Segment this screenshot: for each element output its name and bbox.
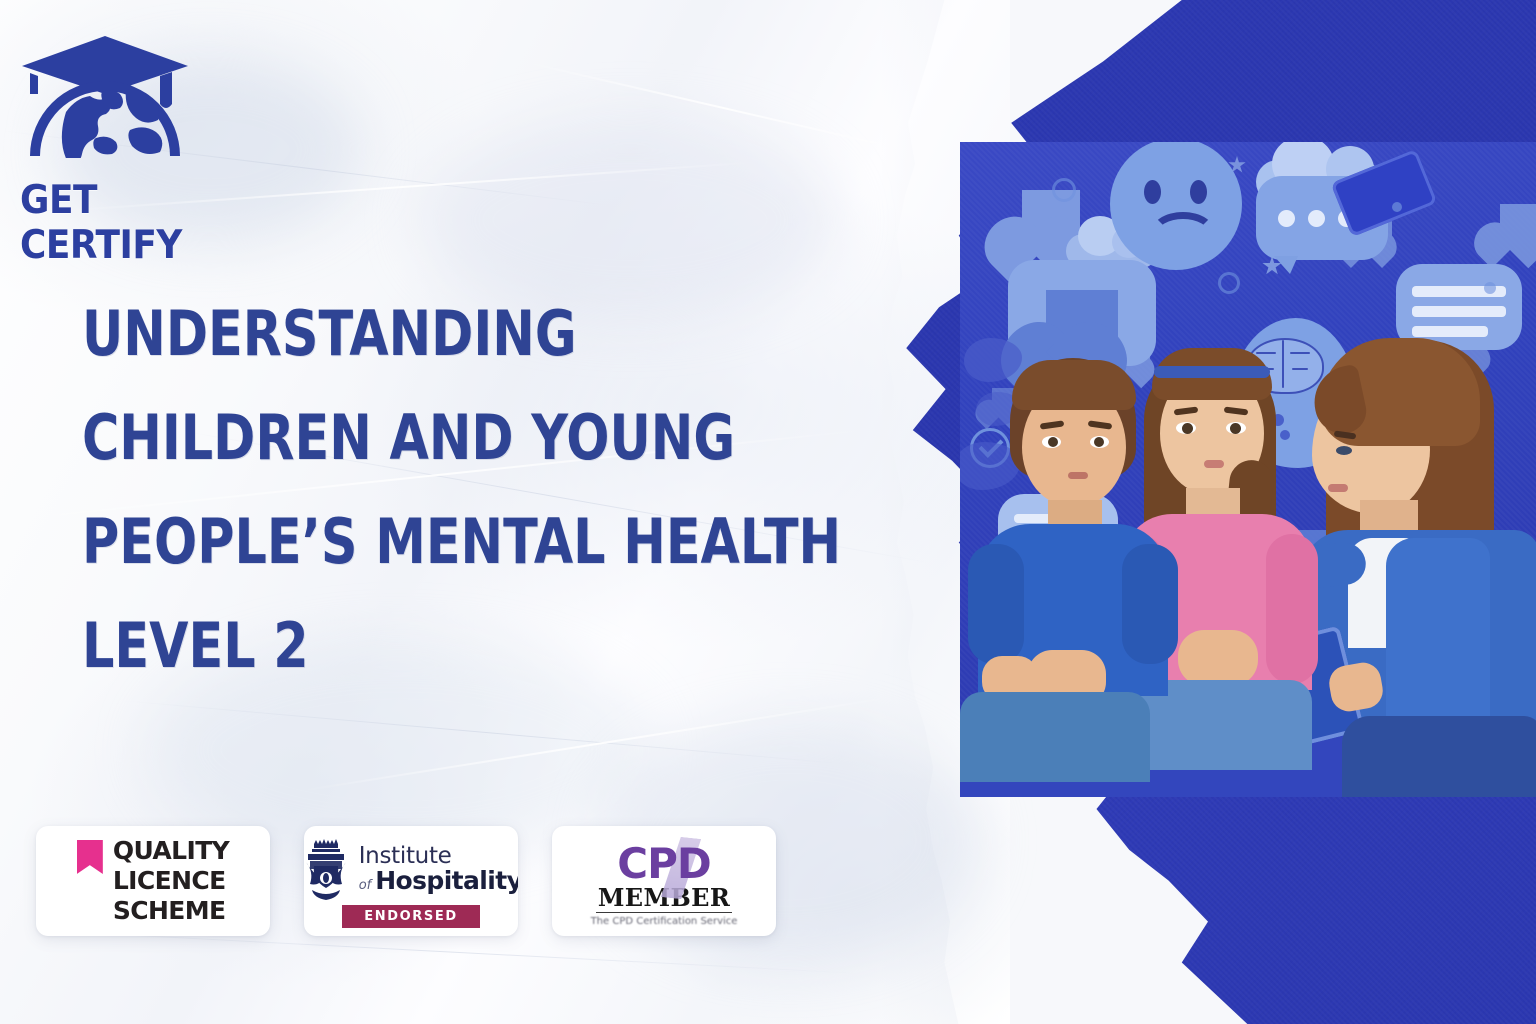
heraldic-crest-icon <box>304 838 352 900</box>
ribbon-bookmark-icon <box>77 840 103 874</box>
title-line-1: UNDERSTANDING <box>82 282 746 386</box>
ioh-line-2: Hospitality <box>375 868 518 893</box>
ioh-connector: of <box>359 879 372 892</box>
sad-face-icon <box>1110 142 1242 270</box>
dot-decor-icon <box>1392 202 1402 212</box>
accreditation-badges: QUALITY LICENCE SCHEME <box>36 826 776 936</box>
hero-illustration <box>960 142 1536 797</box>
graduation-cap-globe-icon <box>10 28 200 158</box>
poster-canvas: GET CERTIFY UNDERSTANDING CHILDREN AND Y… <box>0 0 1536 1024</box>
qls-line-3: SCHEME <box>113 896 229 926</box>
cpd-caption: The CPD Certification Service <box>589 916 739 928</box>
bubble-dot-icon <box>1308 210 1325 227</box>
ioh-endorsed-ribbon: ENDORSED <box>342 905 480 928</box>
brand-logo[interactable]: GET CERTIFY <box>10 28 210 203</box>
boy-figure <box>970 350 1180 720</box>
title-line-2: CHILDREN AND YOUNG <box>82 386 746 490</box>
bubble-dot-icon <box>1278 210 1295 227</box>
ring-decor-icon <box>1052 178 1076 202</box>
title-line-4: LEVEL 2 <box>82 594 746 698</box>
heart-icon <box>1500 204 1536 240</box>
dot-decor-icon <box>1484 282 1496 294</box>
badge-quality-licence-scheme[interactable]: QUALITY LICENCE SCHEME <box>36 826 270 936</box>
badge-cpd-member[interactable]: CPD MEMBER The CPD Certification Service <box>552 826 776 936</box>
badge-institute-of-hospitality[interactable]: Institute of Hospitality ENDORSED <box>304 826 518 936</box>
cpd-title: CPD <box>617 843 710 885</box>
brand-logo-text: GET CERTIFY <box>20 178 195 268</box>
qls-line-1: QUALITY <box>113 836 229 866</box>
qls-line-2: LICENCE <box>113 866 229 896</box>
page-title: UNDERSTANDING CHILDREN AND YOUNG PEOPLE’… <box>82 282 892 698</box>
ring-decor-icon <box>1218 272 1240 294</box>
title-line-3: PEOPLE’S MENTAL HEALTH <box>82 490 746 594</box>
ioh-line-1: Institute <box>359 845 518 868</box>
